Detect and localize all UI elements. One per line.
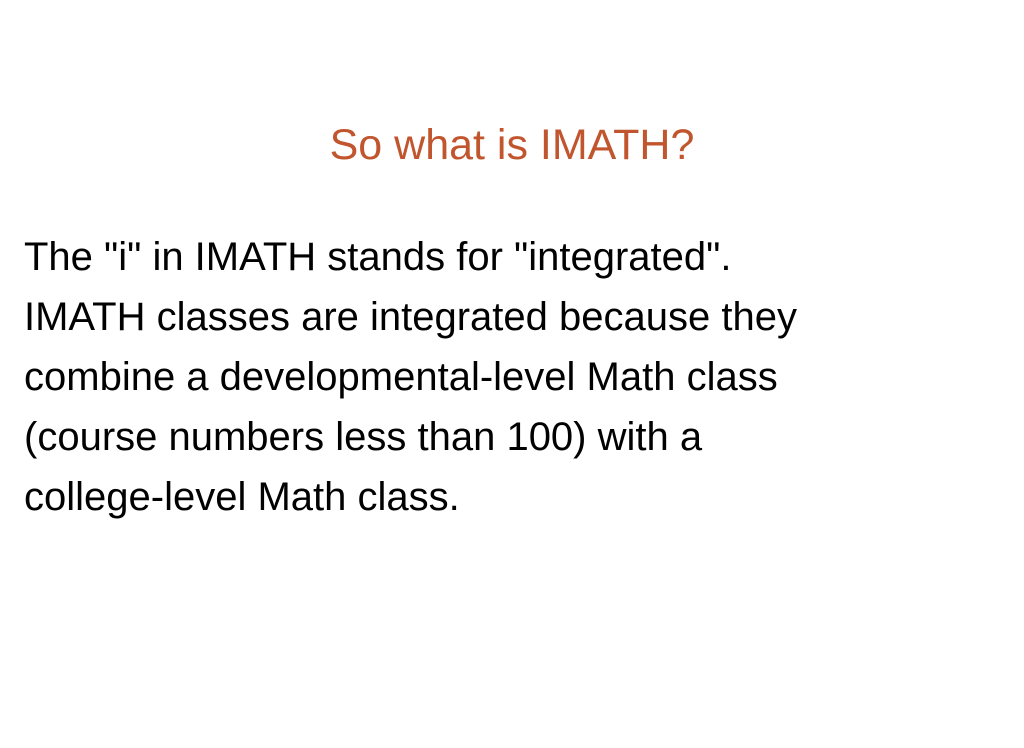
body-line: college-level Math class. (24, 467, 1000, 527)
slide-body-text: The "i" in IMATH stands for "integrated"… (24, 227, 1000, 527)
slide-canvas: So what is IMATH? The "i" in IMATH stand… (0, 0, 1024, 748)
body-line: IMATH classes are integrated because the… (24, 287, 1000, 347)
body-line: (course numbers less than 100) with a (24, 407, 1000, 467)
body-line: combine a developmental-level Math class (24, 347, 1000, 407)
page-title: So what is IMATH? (0, 119, 1024, 171)
body-line: The "i" in IMATH stands for "integrated"… (24, 227, 1000, 287)
